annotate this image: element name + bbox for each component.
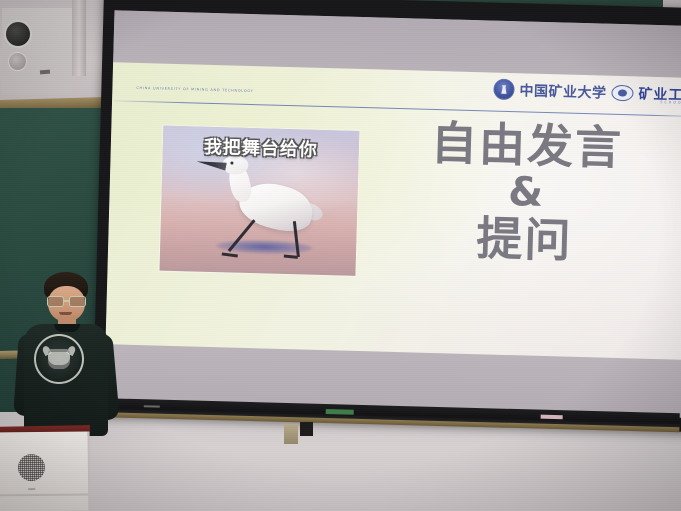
podium-seam <box>0 494 88 497</box>
shirt-emblem-icon <box>34 334 84 384</box>
slide-title-line-3: 提问 <box>364 211 681 268</box>
projected-slide: 中国矿业大学 矿业工程 CHINA UNIVERSITY OF MINING A… <box>105 62 681 360</box>
glasses-lens-left <box>47 296 64 307</box>
brand-line: 中国矿业大学 矿业工程 <box>493 79 681 106</box>
projection-screen-frame: 中国矿业大学 矿业工程 CHINA UNIVERSITY OF MINING A… <box>93 0 681 432</box>
slide-body: 我把舞台给你 自由发言 & 提问 <box>105 106 681 360</box>
podium-speaker-grille-icon <box>18 454 45 481</box>
wall-sensor-icon <box>8 52 27 71</box>
rail-mark <box>144 405 160 407</box>
lecture-hall-photo: 中国矿业大学 矿业工程 CHINA UNIVERSITY OF MINING A… <box>0 0 681 511</box>
rail-sticker-pink <box>541 415 563 420</box>
department-name-en: SCHOOL OF <box>660 100 681 105</box>
hanging-object-dark <box>300 422 313 436</box>
wall-clip <box>40 70 50 75</box>
slide-picture: 我把舞台给你 <box>159 126 359 276</box>
presenter-mouth <box>59 312 72 315</box>
department-crest-icon <box>611 84 633 101</box>
slide-title-line-1: 自由发言 <box>366 117 681 174</box>
university-crest-icon <box>493 79 515 101</box>
shirt-emblem-core <box>48 349 70 369</box>
podium <box>0 431 90 511</box>
glasses-lens-right <box>69 296 86 307</box>
university-name-en: CHINA UNIVERSITY OF MINING AND TECHNOLOG… <box>136 86 253 93</box>
projection-screen-surface: 中国矿业大学 矿业工程 CHINA UNIVERSITY OF MINING A… <box>104 10 681 418</box>
podium-screw <box>28 488 35 490</box>
presenter-collar <box>54 324 80 332</box>
slide-title: 自由发言 & 提问 <box>364 117 681 268</box>
hanging-object-tan <box>284 424 298 444</box>
rail-sticker-green <box>326 409 354 415</box>
university-name-cn: 中国矿业大学 <box>519 80 607 102</box>
egret-eye <box>230 161 233 164</box>
wall-speaker-icon <box>4 20 32 48</box>
wall-bracket <box>72 0 86 76</box>
glasses-icon <box>47 296 86 305</box>
picture-caption: 我把舞台给你 <box>163 132 360 163</box>
